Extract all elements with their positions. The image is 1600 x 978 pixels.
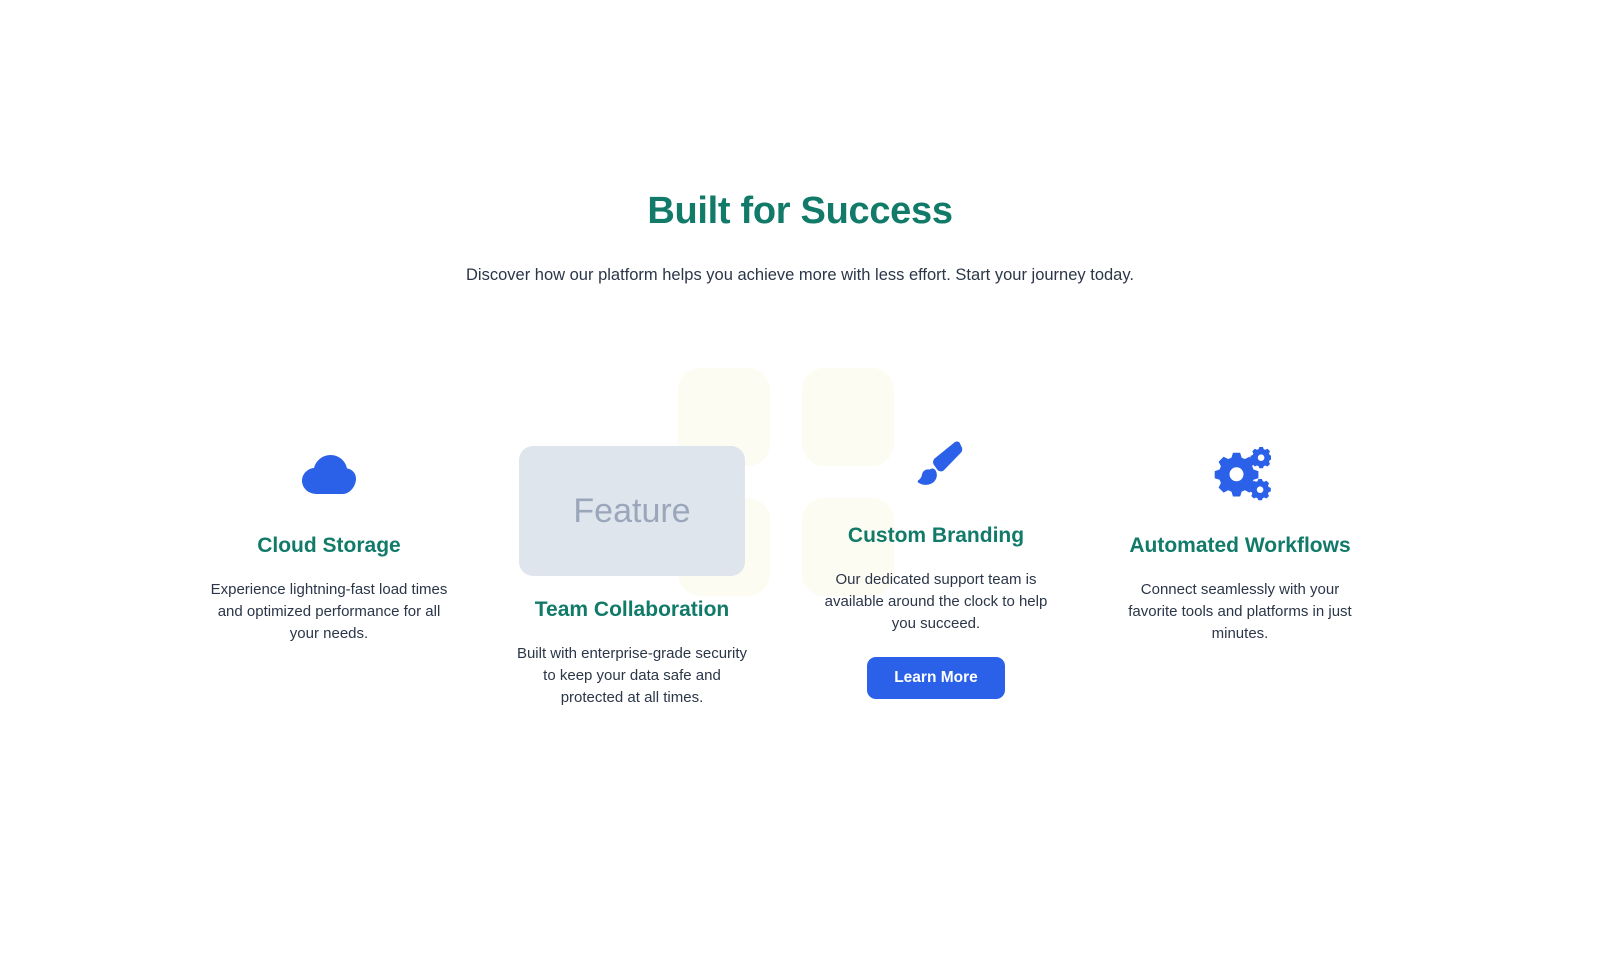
feature-description: Our dedicated support team is available … xyxy=(815,569,1057,636)
learn-more-button[interactable]: Learn More xyxy=(867,657,1005,699)
feature-card-team-collaboration: Feature Team Collaboration Built with en… xyxy=(511,446,753,709)
feature-title: Cloud Storage xyxy=(208,534,450,559)
feature-card-cloud-storage: Cloud Storage Experience lightning-fast … xyxy=(208,438,450,645)
image-placeholder: Feature xyxy=(519,446,745,576)
feature-grid: Cloud Storage Experience lightning-fast … xyxy=(0,0,1600,978)
feature-description: Experience lightning-fast load times and… xyxy=(208,579,450,646)
gears-icon xyxy=(1209,447,1271,501)
paintbrush-icon xyxy=(909,439,963,493)
feature-icon-wrap xyxy=(815,430,1057,502)
feature-description: Connect seamlessly with your favorite to… xyxy=(1119,579,1361,646)
feature-title: Team Collaboration xyxy=(511,598,753,623)
feature-description: Built with enterprise-grade security to … xyxy=(511,643,753,710)
cloud-icon xyxy=(300,451,358,497)
feature-title: Custom Branding xyxy=(815,524,1057,549)
feature-card-automated-workflows: Automated Workflows Connect seamlessly w… xyxy=(1119,438,1361,645)
feature-icon-wrap xyxy=(208,438,450,510)
page-root: Built for Success Discover how our platf… xyxy=(0,0,1600,978)
feature-card-custom-branding: Custom Branding Our dedicated support te… xyxy=(815,430,1057,699)
feature-title: Automated Workflows xyxy=(1119,534,1361,559)
feature-icon-wrap xyxy=(1119,438,1361,510)
